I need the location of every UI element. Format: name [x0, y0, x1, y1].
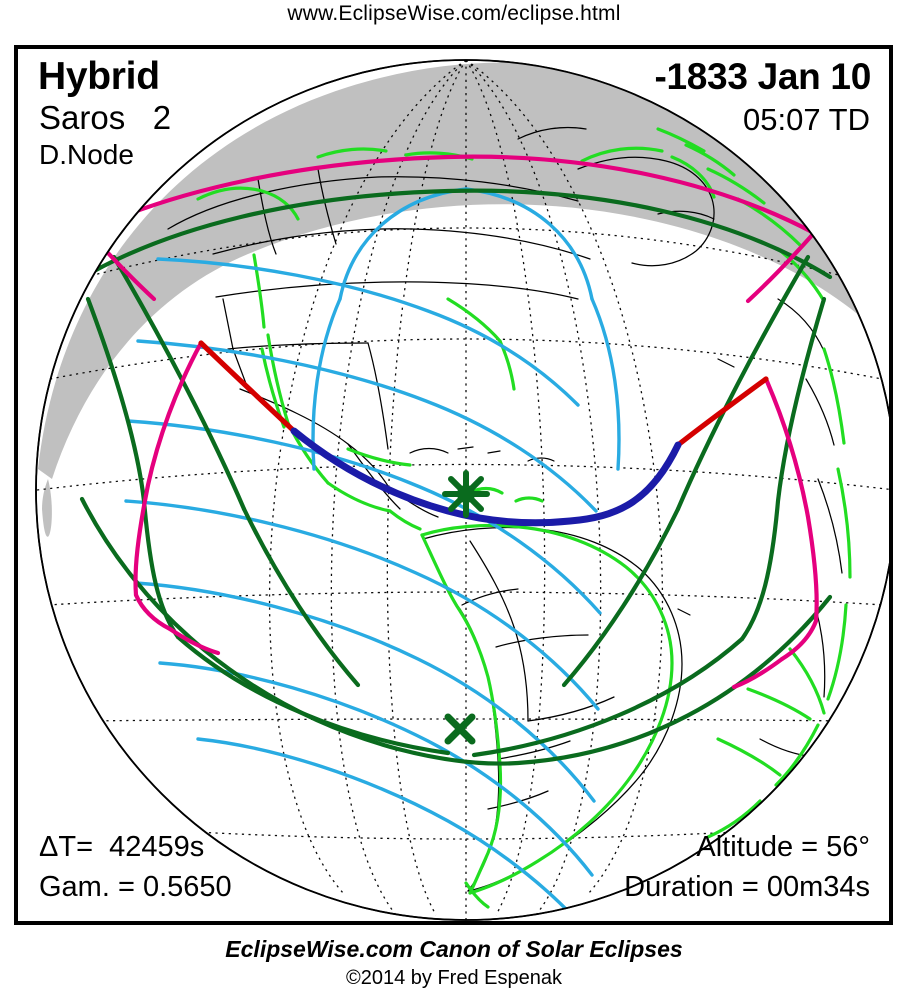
eclipse-date-label: -1833 Jan 10 [654, 58, 871, 95]
eclipse-time-label: 05:07 TD [743, 104, 870, 135]
copyright-notice: ©2014 by Fred Espenak [0, 967, 908, 990]
delta-t-label: ΔT= 42459s [39, 833, 204, 862]
source-url: www.EclipseWise.com/eclipse.html [0, 2, 908, 26]
gamma-label: Gam. = 0.5650 [39, 873, 232, 902]
eclipse-map-frame: Hybrid Saros 2 D.Node -1833 Jan 10 05:07… [14, 45, 893, 925]
altitude-label: Altitude = 56° [696, 833, 870, 862]
node-label: D.Node [39, 141, 134, 169]
globe-svg [18, 49, 889, 921]
saros-label: Saros 2 [39, 101, 171, 134]
duration-label: Duration = 00m34s [624, 873, 870, 902]
greatest-eclipse-marker [445, 473, 487, 515]
eclipse-type-label: Hybrid [38, 57, 160, 96]
eclipse-map-page: www.EclipseWise.com/eclipse.html [0, 0, 908, 1004]
publication-title: EclipseWise.com Canon of Solar Eclipses [0, 936, 908, 963]
globe-map [18, 49, 889, 921]
